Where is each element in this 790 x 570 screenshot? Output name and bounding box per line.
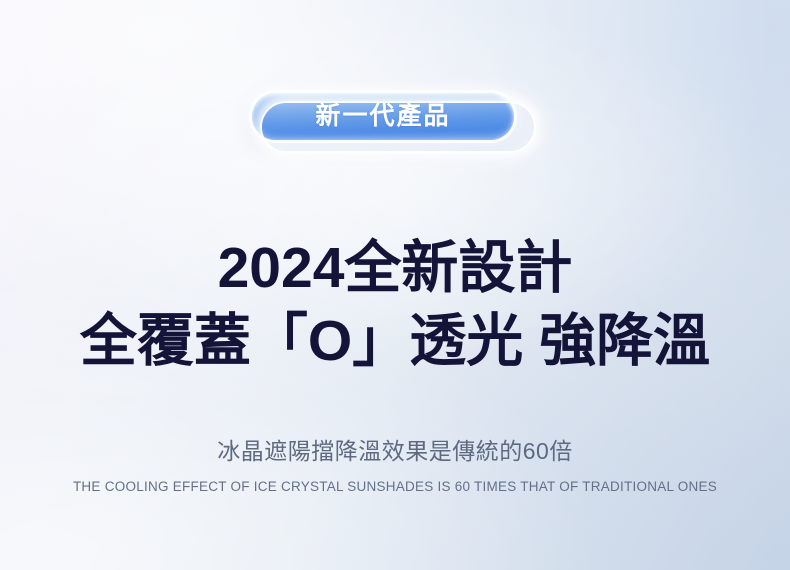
badge-label: 新一代產品	[315, 104, 450, 129]
new-generation-badge: 新一代產品	[252, 93, 538, 153]
subtitle-chinese: 冰晶遮陽擋降溫效果是傳統的60倍	[217, 432, 573, 466]
promo-banner: 新一代產品 2024全新設計 全覆蓋「O」透光 強降溫 冰晶遮陽擋降溫效果是傳統…	[0, 0, 790, 570]
headline-line-2: 全覆蓋「O」透光 強降溫	[80, 313, 710, 370]
banner-content: 新一代產品 2024全新設計 全覆蓋「O」透光 強降溫 冰晶遮陽擋降溫效果是傳統…	[0, 0, 790, 570]
badge-pill: 新一代產品	[252, 93, 514, 140]
subtitle-english: THE COOLING EFFECT OF ICE CRYSTAL SUNSHA…	[73, 479, 717, 494]
headline-block: 2024全新設計 全覆蓋「O」透光 強降溫	[80, 240, 710, 370]
headline-line-1: 2024全新設計	[80, 240, 710, 297]
